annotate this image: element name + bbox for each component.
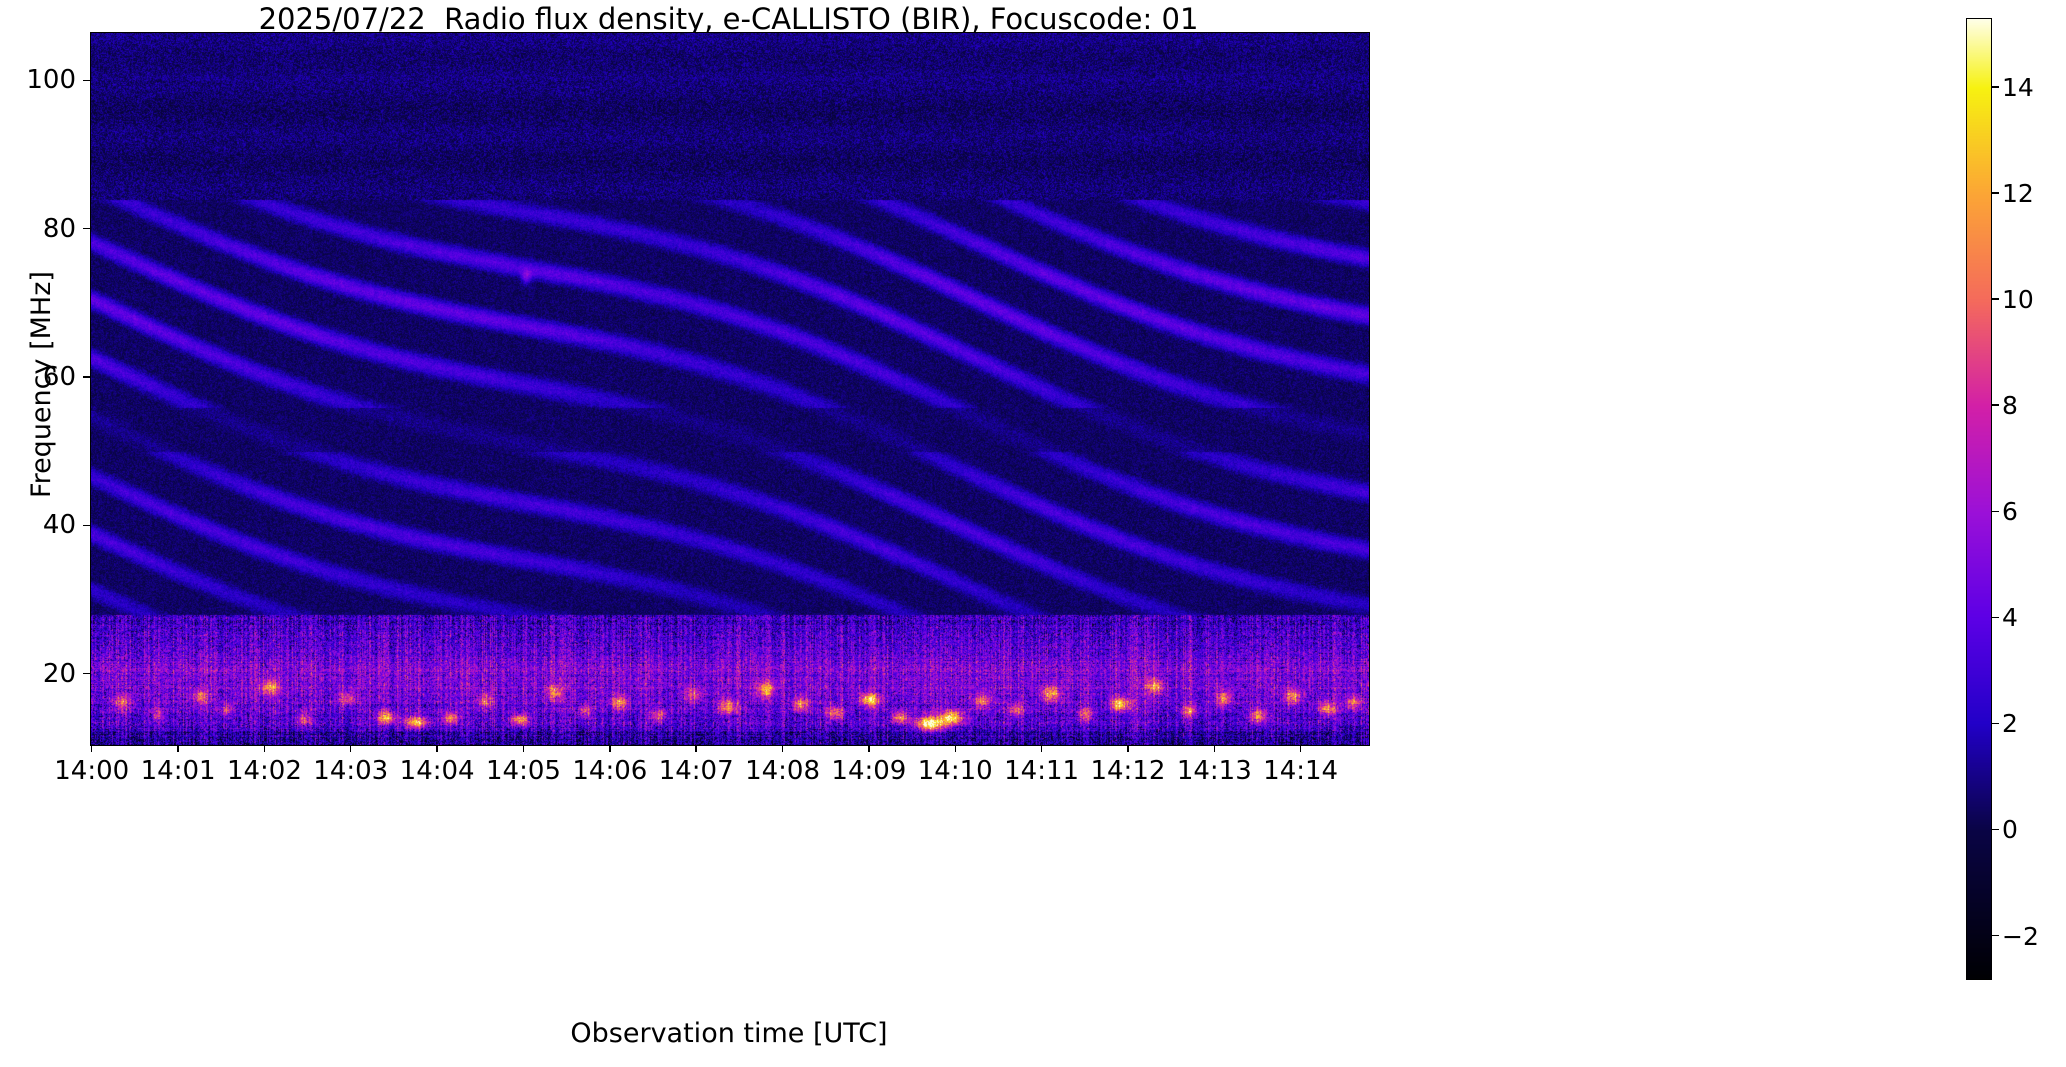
x-tick-mark: [177, 745, 178, 752]
y-tick-label-80: 80: [0, 216, 76, 242]
colorbar-tick-mark: [1992, 192, 1999, 193]
colorbar-tick-label-14: 14: [2002, 75, 2034, 100]
x-tick-label-14-14: 14:14: [1231, 758, 1371, 784]
colorbar-gradient: [1967, 19, 1991, 979]
y-tick-mark: [83, 80, 90, 81]
x-tick-mark: [1041, 745, 1042, 752]
colorbar-tick-mark: [1992, 723, 1999, 724]
figure-title: 2025/07/22 Radio flux density, e-CALLIST…: [0, 2, 1457, 36]
colorbar-tick-label-4: 4: [2002, 605, 2018, 630]
x-tick-mark: [868, 745, 869, 752]
x-tick-mark: [1127, 745, 1128, 752]
x-tick-mark: [436, 745, 437, 752]
spectrogram-axes: [90, 32, 1370, 746]
colorbar-tick-label-2: 2: [2002, 711, 2018, 736]
x-tick-mark: [91, 745, 92, 752]
y-tick-label-100: 100: [0, 67, 76, 93]
colorbar-tick-label-6: 6: [2002, 499, 2018, 524]
colorbar: [1966, 18, 1992, 980]
y-tick-label-40: 40: [0, 512, 76, 538]
y-tick-label-20: 20: [0, 661, 76, 687]
x-axis-label: Observation time [UTC]: [90, 1018, 1368, 1049]
x-tick-mark: [955, 745, 956, 752]
colorbar-tick-label-10: 10: [2002, 287, 2034, 312]
colorbar-tick-label-12: 12: [2002, 181, 2034, 206]
colorbar-tick-label-8: 8: [2002, 393, 2018, 418]
colorbar-tick-mark: [1992, 617, 1999, 618]
x-tick-mark: [695, 745, 696, 752]
y-tick-mark: [83, 525, 90, 526]
dynamic-spectrum-image: [91, 33, 1369, 745]
x-tick-mark: [264, 745, 265, 752]
colorbar-tick-mark: [1992, 829, 1999, 830]
spectrogram-figure: 2025/07/22 Radio flux density, e-CALLIST…: [0, 0, 2066, 1067]
colorbar-tick-mark: [1992, 935, 1999, 936]
x-tick-mark: [609, 745, 610, 752]
x-tick-mark: [782, 745, 783, 752]
colorbar-tick-label-0: 0: [2002, 817, 2018, 842]
colorbar-tick-mark: [1992, 404, 1999, 405]
colorbar-tick-mark: [1992, 86, 1999, 87]
y-tick-mark: [83, 228, 90, 229]
x-tick-mark: [1214, 745, 1215, 752]
y-tick-mark: [83, 673, 90, 674]
x-tick-mark: [1300, 745, 1301, 752]
y-tick-mark: [83, 376, 90, 377]
y-axis-label: Frequency [MHz]: [26, 271, 57, 498]
x-tick-mark: [350, 745, 351, 752]
colorbar-tick-mark: [1992, 511, 1999, 512]
colorbar-tick-mark: [1992, 298, 1999, 299]
x-tick-mark: [523, 745, 524, 752]
colorbar-tick-label-neg2: −2: [2002, 924, 2039, 949]
